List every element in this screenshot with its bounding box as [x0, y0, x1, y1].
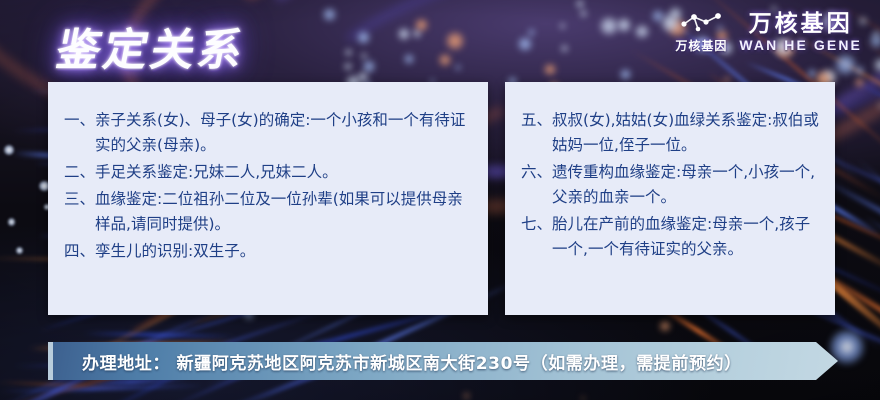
service-item-text: 血缘鉴定:二位祖孙二位及一位孙辈(如果可以提供母亲样品,请同时提供)。 [95, 187, 476, 237]
logo-name-cn: 万核基因 [749, 11, 853, 35]
bokeh-dot [357, 31, 370, 44]
service-item-text: 手足关系鉴定:兄妹二人,兄妹二人。 [95, 160, 476, 185]
bokeh-dot [560, 23, 566, 29]
bokeh-dot [439, 54, 451, 66]
bokeh-dot [544, 64, 555, 75]
logo-wordmark: 万核基因 WAN HE GENE [739, 11, 862, 53]
service-item: 一、亲子关系(女)、母子(女)的确定:一个小孩和一个有待证实的父亲(母亲)。 [64, 108, 476, 158]
service-item-number: 七、 [521, 212, 552, 262]
logo-mark: 万核基因 [675, 10, 727, 54]
service-item-number: 五、 [521, 108, 552, 158]
bokeh-dot [455, 65, 460, 70]
service-item-text: 胎儿在产前的血缘鉴定:母亲一个,孩子一个,一个有待证实的父亲。 [552, 212, 823, 262]
bokeh-dot [580, 10, 587, 17]
address-bar: 办理地址： 新疆阿克苏地区阿克苏市新城区南大街230号（如需办理，需提前预约） [48, 342, 838, 380]
bokeh-dot [518, 37, 532, 51]
bokeh-dot [600, 17, 617, 34]
poster-canvas: 鉴定关系 万核基因 万核基因 [0, 0, 880, 400]
bokeh-dot [617, 18, 631, 32]
bokeh-dot [344, 63, 351, 70]
bokeh-dot [635, 25, 649, 39]
service-item-number: 四、 [64, 239, 95, 264]
service-item: 三、血缘鉴定:二位祖孙二位及一位孙辈(如果可以提供母亲样品,请同时提供)。 [64, 187, 476, 237]
service-item-number: 二、 [64, 160, 95, 185]
services-panel-left: 一、亲子关系(女)、母子(女)的确定:一个小孩和一个有待证实的父亲(母亲)。二、… [48, 82, 488, 315]
service-item-text: 叔叔(女),姑姑(女)血绿关系鉴定:叔伯或姑妈一位,侄子一位。 [552, 108, 823, 158]
service-item-number: 六、 [521, 160, 552, 210]
service-item-text: 孪生儿的识别:双生子。 [95, 239, 476, 264]
brand-logo: 万核基因 万核基因 WAN HE GENE [675, 10, 862, 54]
services-panel-right: 五、叔叔(女),姑姑(女)血绿关系鉴定:叔伯或姑妈一位,侄子一位。六、遗传重构血… [505, 82, 835, 315]
address-bar-text: 办理地址： 新疆阿克苏地区阿克苏市新城区南大街230号（如需办理，需提前预约） [82, 342, 742, 380]
service-item: 二、手足关系鉴定:兄妹二人,兄妹二人。 [64, 160, 476, 185]
service-item-text: 亲子关系(女)、母子(女)的确定:一个小孩和一个有待证实的父亲(母亲)。 [95, 108, 476, 158]
bokeh-dot [8, 218, 16, 226]
bokeh-dot [835, 54, 856, 75]
service-item: 五、叔叔(女),姑姑(女)血绿关系鉴定:叔伯或姑妈一位,侄子一位。 [521, 108, 823, 158]
logo-mark-label: 万核基因 [675, 37, 727, 54]
bokeh-dot [404, 54, 414, 64]
service-item-number: 一、 [64, 108, 95, 158]
bokeh-dot [358, 72, 367, 81]
service-item: 六、遗传重构血缘鉴定:母亲一个,小孩一个,父亲的血亲一个。 [521, 160, 823, 210]
service-item: 四、孪生儿的识别:双生子。 [64, 239, 476, 264]
bokeh-dot [620, 69, 631, 80]
bokeh-dot [446, 32, 463, 49]
bokeh-dot [415, 19, 427, 31]
bokeh-dot [870, 34, 880, 48]
address-bar-left-cap [48, 342, 53, 380]
page-title: 鉴定关系 [52, 14, 252, 78]
bokeh-dot [16, 247, 23, 254]
service-item-text: 遗传重构血缘鉴定:母亲一个,小孩一个,父亲的血亲一个。 [552, 160, 823, 210]
service-item-number: 三、 [64, 187, 95, 237]
service-item: 七、胎儿在产前的血缘鉴定:母亲一个,孩子一个,一个有待证实的父亲。 [521, 212, 823, 262]
logo-name-en: WAN HE GENE [739, 38, 862, 53]
bokeh-dot [561, 45, 568, 52]
bokeh-dot [660, 321, 670, 331]
molecule-icon [678, 10, 724, 34]
